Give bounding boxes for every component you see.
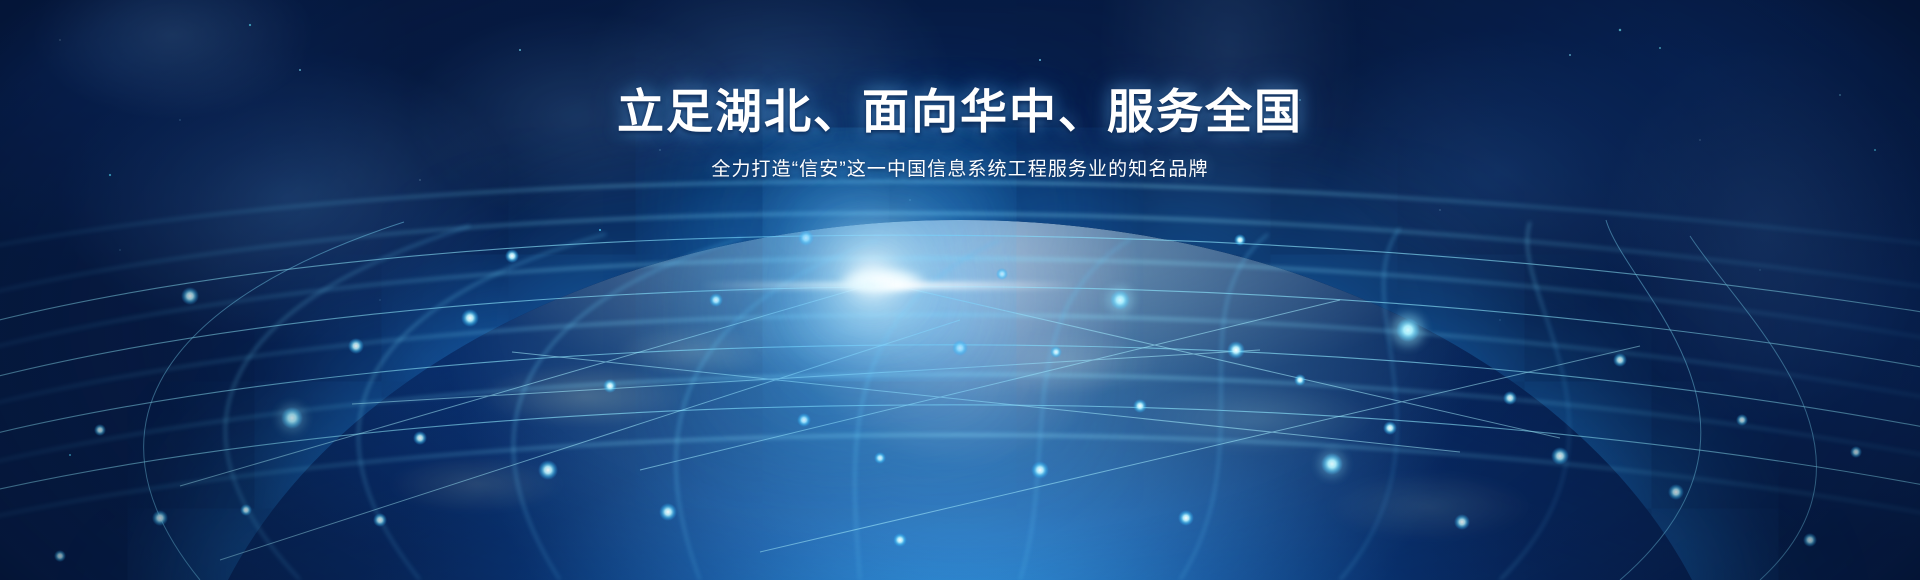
core-glow-streak bbox=[700, 282, 1080, 289]
banner-headline: 立足湖北、面向华中、服务全国 bbox=[0, 86, 1920, 139]
banner-copy: 立足湖北、面向华中、服务全国 全力打造“信安”这一中国信息系统工程服务业的知名品… bbox=[0, 86, 1920, 183]
core-glow-center bbox=[840, 268, 926, 294]
banner-subheadline: 全力打造“信安”这一中国信息系统工程服务业的知名品牌 bbox=[0, 157, 1920, 184]
hero-banner: 立足湖北、面向华中、服务全国 全力打造“信安”这一中国信息系统工程服务业的知名品… bbox=[0, 0, 1920, 580]
